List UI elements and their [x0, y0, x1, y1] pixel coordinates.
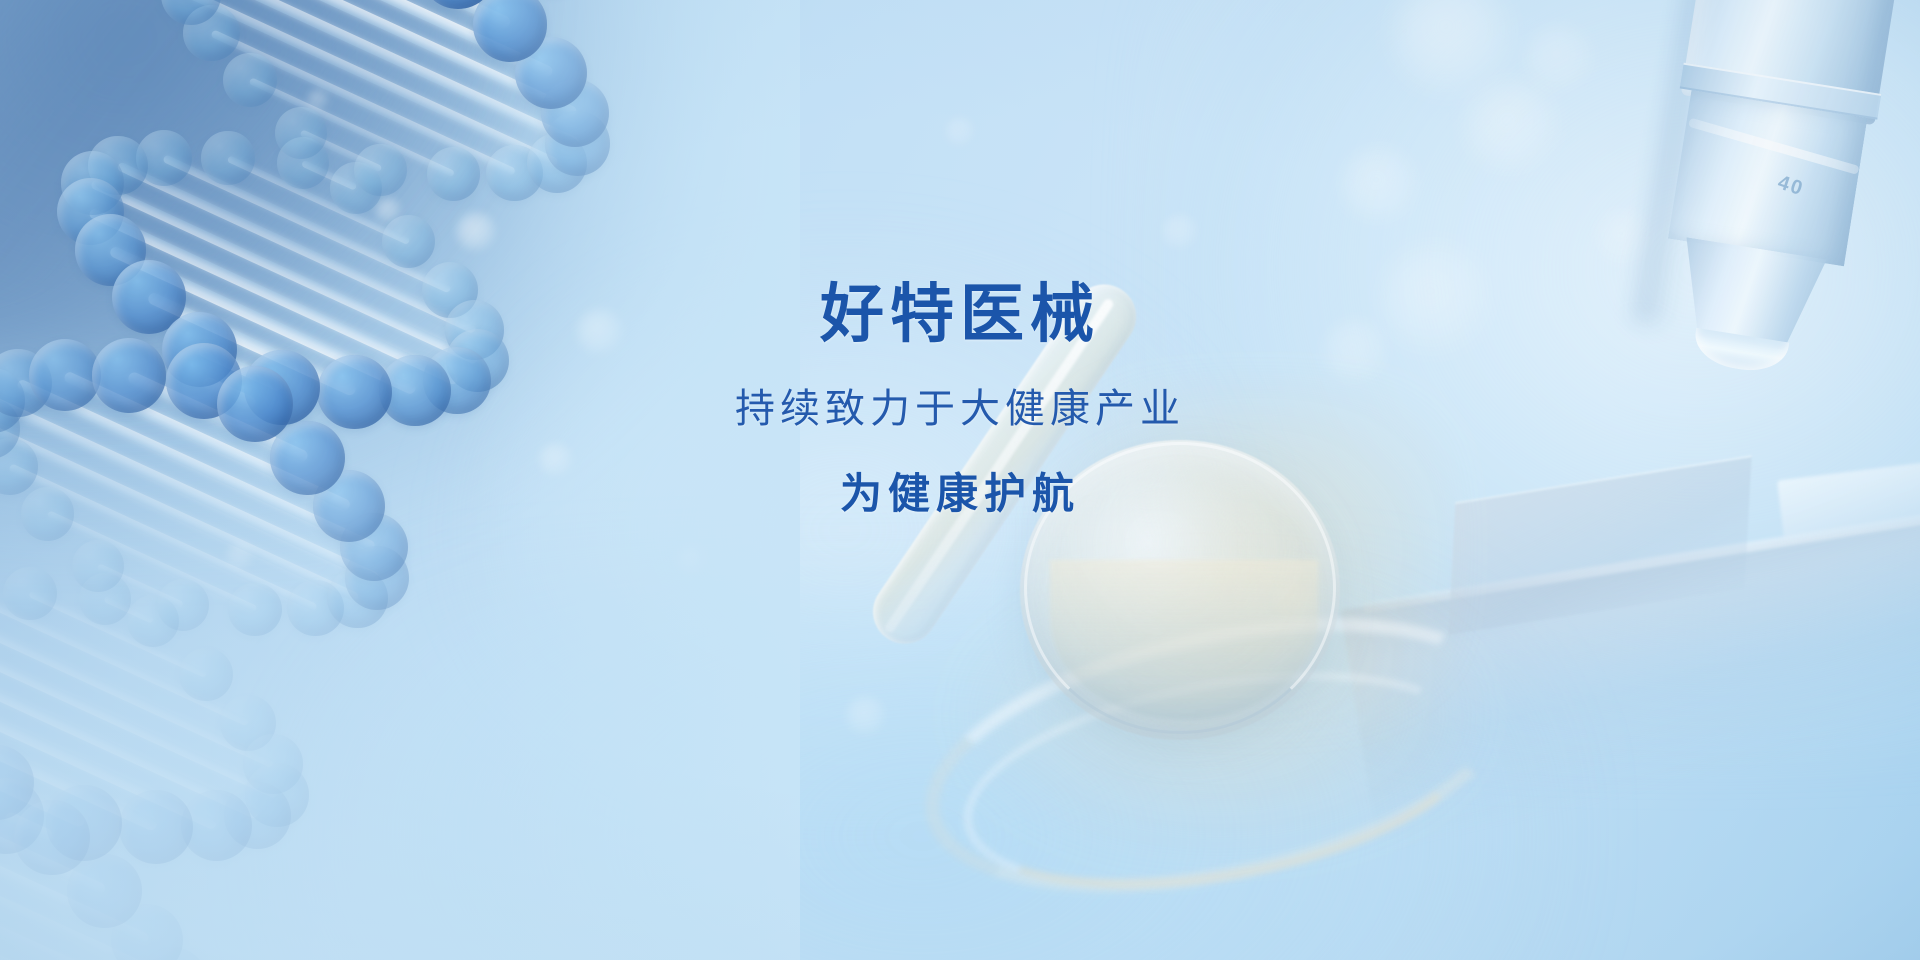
hero-tagline: 为健康护航 — [0, 471, 1920, 517]
dna-sphere — [275, 107, 327, 159]
dna-sphere — [427, 147, 481, 201]
dna-sphere — [382, 215, 435, 268]
hero-text-block: 好特医械 持续致力于大健康产业 为健康护航 — [0, 280, 1920, 517]
page-title: 好特医械 — [0, 280, 1920, 349]
dna-sphere — [157, 579, 209, 631]
hero-subtitle: 持续致力于大健康产业 — [0, 387, 1920, 431]
dna-sphere — [3, 567, 56, 620]
hero-banner: 40 好特医械 持续致力于大健康产业 为健康护航 — [0, 0, 1920, 960]
dna-sphere — [223, 53, 277, 107]
dna-sphere — [354, 144, 406, 196]
dna-sphere — [14, 800, 90, 876]
dna-sphere — [72, 540, 124, 592]
dna-sphere — [228, 583, 282, 637]
dna-sphere — [201, 131, 254, 184]
dna-sphere — [119, 790, 193, 864]
dna-sphere — [179, 648, 232, 701]
dna-sphere — [67, 854, 142, 929]
